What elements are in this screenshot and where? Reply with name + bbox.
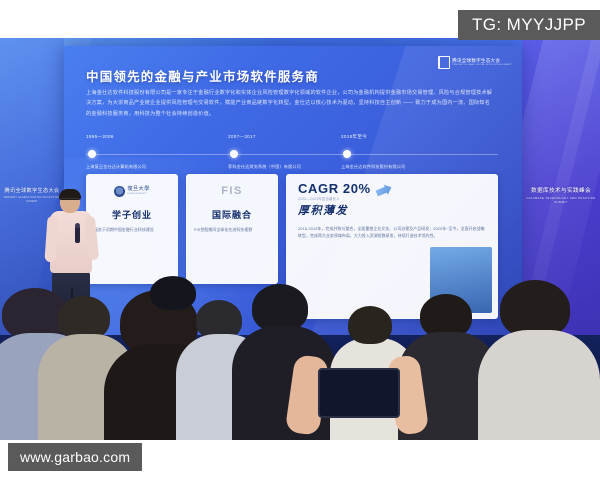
summit-mark-icon (438, 56, 450, 69)
timeline-axis (86, 154, 498, 155)
slide-brand-logo: 腾讯全球数字生态大会 TENCENT GLOBAL DIGITAL ECOSYS… (438, 56, 512, 69)
screenshot-root: 腾讯全球数字生态大会 TENCENT GLOBAL DIGITAL ECOSYS… (0, 0, 600, 480)
timeline-company-1: 上海复旦金仕达计算机有限公司 (86, 164, 146, 170)
timeline-company-2: 菲科金仕达财务系统（中国）有限公司 (228, 164, 301, 170)
timeline-node-3: 2018年至今 上海金仕达软件科技股份有限公司 (341, 134, 491, 140)
card1-logo-area: 復旦大學 FUDAN UNIVERSITY (86, 174, 178, 208)
timeline-dot-3 (343, 150, 351, 158)
cagr-value: CAGR 20% (298, 181, 371, 196)
card-student-entrepreneurship: 復旦大學 FUDAN UNIVERSITY 学子创业 服务于初期中国金融行业科技… (86, 174, 178, 284)
audience-head (252, 284, 308, 332)
watermark-url: www.garbao.com (8, 443, 142, 471)
timeline-node-1: 1995—2006 上海复旦金仕达计算机有限公司 (86, 134, 236, 139)
microphone-icon (75, 226, 80, 243)
timeline-period-3: 2018年至今 (341, 134, 491, 140)
timeline-company-3: 上海金仕达软件科技股份有限公司 (341, 164, 405, 170)
smartphone-screen (318, 368, 400, 418)
slide-title: 中国领先的金融与产业市场软件服务商 (86, 66, 319, 85)
card2-desc: FIS控股期间全球化先进科技视野 (194, 227, 270, 234)
audience-shoulders (478, 330, 600, 440)
card2-logo-area: FIS (186, 174, 278, 208)
card2-title: 国际融合 (186, 208, 278, 221)
fudan-university-logo: 復旦大學 FUDAN UNIVERSITY (114, 186, 149, 197)
slide-brand-text: 腾讯全球数字生态大会 TENCENT GLOBAL DIGITAL ECOSYS… (452, 58, 512, 66)
card1-desc: 服务于初期中国金融行业科技建设 (94, 227, 170, 234)
fis-logo: FIS (221, 185, 243, 197)
banner-right-label: 数据库技术与实践峰会 DATABASE TECHNOLOGY AND PRACT… (522, 188, 600, 205)
cagr-caption: 2020—2023年复合增长人 (298, 196, 498, 201)
conference-photo: 腾讯全球数字生态大会 TENCENT GLOBAL DIGITAL ECOSYS… (0, 38, 600, 440)
fudan-crest-icon (114, 186, 125, 197)
card1-title: 学子创业 (86, 208, 178, 221)
fudan-logo-cn: 復旦大學 (127, 186, 149, 192)
speaker-glasses (61, 198, 79, 203)
fudan-logo-text: 復旦大學 FUDAN UNIVERSITY (127, 187, 149, 195)
timeline-dot-2 (230, 150, 238, 158)
watermark-telegram: TG: MYYJJPP (458, 10, 600, 40)
card-international-integration: FIS 国际融合 FIS控股期间全球化先进科技视野 (186, 174, 278, 284)
slide-body-text: 上海金仕达软件科技股份有限公司是一家专注于金融行业数字化和实体企业风险管理数字化… (86, 88, 494, 119)
fudan-logo-en: FUDAN UNIVERSITY (127, 193, 149, 195)
card3-desc: 2018-2019年，完成并购与整合，全面重塑企业文化、公司治理及产品研发；20… (298, 226, 486, 240)
slide-brand-cn: 腾讯全球数字生态大会 (452, 58, 500, 63)
audience-head (348, 306, 392, 344)
card-growth: CAGR 20% 2020—2023年复合增长人 厚积薄发 2018-2019年… (286, 174, 498, 319)
slide-brand-en: TENCENT GLOBAL DIGITAL ECOSYSTEM SUMMIT (452, 64, 512, 67)
card3-title: 厚积薄发 (298, 202, 498, 218)
timeline-period-1: 1995—2006 (86, 134, 236, 139)
banner-right-cn: 数据库技术与实践峰会 (531, 188, 591, 194)
banner-right-en: DATABASE TECHNOLOGY AND PRACTICE SUMMIT (522, 197, 600, 205)
timeline-dot-1 (88, 150, 96, 158)
audience-cap (150, 276, 196, 310)
cagr-row: CAGR 20% (298, 181, 498, 196)
